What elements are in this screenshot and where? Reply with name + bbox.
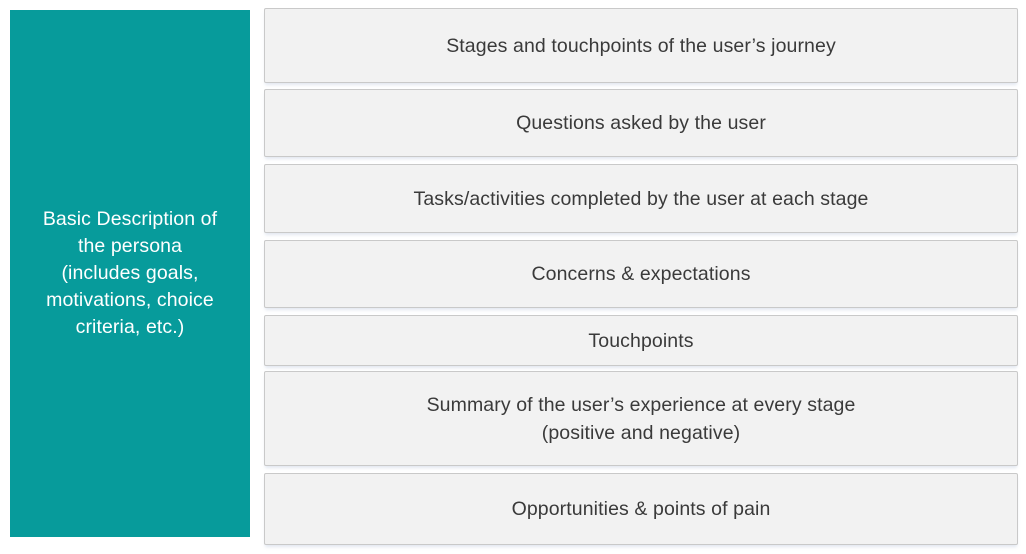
journey-row-label: Summary of the user’s experience at ever…	[427, 391, 856, 447]
journey-row-touchpoints: Touchpoints	[264, 315, 1018, 366]
journey-row-label: Stages and touchpoints of the user’s jou…	[446, 32, 836, 60]
journey-row-label: Tasks/activities completed by the user a…	[413, 185, 868, 213]
persona-description-text: Basic Description of the persona (includ…	[43, 206, 217, 341]
journey-row-concerns-expectations: Concerns & expectations	[264, 240, 1018, 308]
journey-row-label: Opportunities & points of pain	[512, 495, 771, 523]
journey-row-label: Concerns & expectations	[531, 260, 750, 288]
journey-row-label: Questions asked by the user	[516, 109, 766, 137]
journey-row-experience-summary: Summary of the user’s experience at ever…	[264, 371, 1018, 466]
journey-rows-column: Stages and touchpoints of the user’s jou…	[264, 0, 1018, 554]
journey-row-questions: Questions asked by the user	[264, 89, 1018, 157]
journey-row-stages-touchpoints: Stages and touchpoints of the user’s jou…	[264, 8, 1018, 83]
persona-description-panel: Basic Description of the persona (includ…	[10, 10, 250, 537]
journey-row-opportunities-pain: Opportunities & points of pain	[264, 473, 1018, 545]
diagram-canvas: Basic Description of the persona (includ…	[0, 0, 1026, 554]
journey-row-label: Touchpoints	[588, 327, 693, 355]
journey-row-tasks-activities: Tasks/activities completed by the user a…	[264, 164, 1018, 233]
